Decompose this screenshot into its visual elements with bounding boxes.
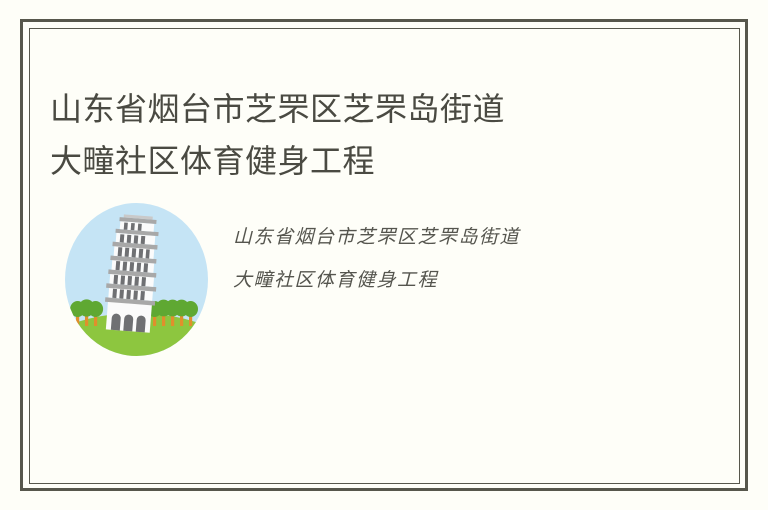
page-title-line-2: 大疃社区体育健身工程 xyxy=(50,135,660,187)
body-paragraph-line-1: 山东省烟台市芝罘区芝罘岛街道 xyxy=(233,216,653,259)
body-paragraph: 山东省烟台市芝罘区芝罘岛街道 大疃社区体育健身工程 xyxy=(233,216,653,302)
body-paragraph-line-2: 大疃社区体育健身工程 xyxy=(233,259,653,302)
document-page: 山东省烟台市芝罘区芝罘岛街道 大疃社区体育健身工程 xyxy=(0,0,768,510)
leaning-tower-of-pisa-illustration xyxy=(65,203,208,356)
page-title: 山东省烟台市芝罘区芝罘岛街道 大疃社区体育健身工程 xyxy=(50,83,660,187)
page-title-line-1: 山东省烟台市芝罘区芝罘岛街道 xyxy=(50,83,660,135)
